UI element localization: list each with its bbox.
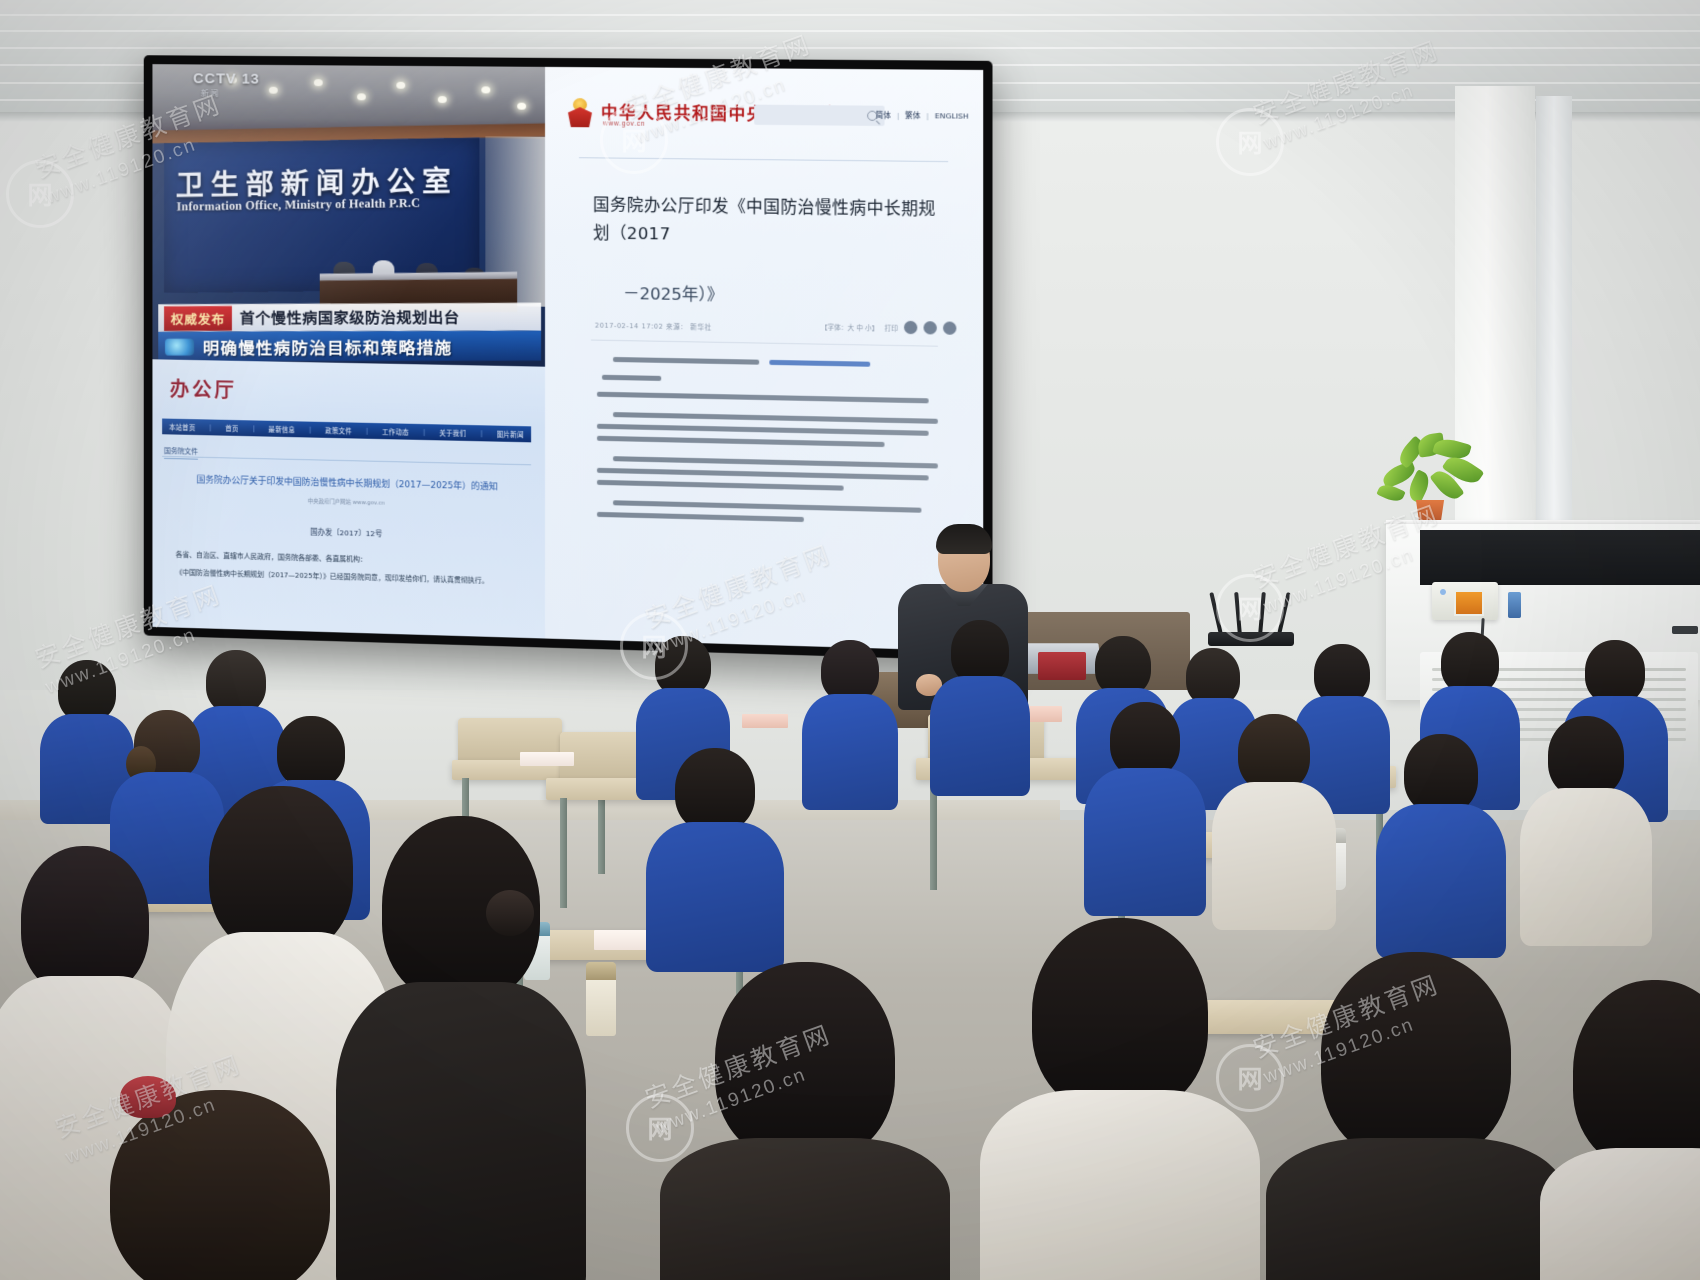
person-head: [821, 640, 879, 702]
person-head: [1095, 636, 1151, 696]
person-head: [209, 786, 353, 954]
counter-dark-panel: [1420, 530, 1700, 585]
person-head: [110, 1090, 330, 1280]
share-qq-icon[interactable]: [943, 321, 956, 334]
person-head: [675, 748, 755, 832]
article-paragraph: [597, 356, 932, 404]
water-bottle: [586, 962, 616, 1036]
audience-member: [646, 748, 784, 968]
gov-left-doc-number: 国办发〔2017〕12号: [185, 523, 509, 542]
person-head: [1032, 918, 1208, 1114]
hair-bun: [486, 890, 534, 936]
news-ticker-secondary: 明确慢性病防治目标和策略措施: [158, 331, 541, 362]
projection-screen[interactable]: CCTV 13 新闻 卫生部新闻办公室 Information Office, …: [144, 55, 993, 661]
hair-tie: [120, 1076, 176, 1118]
audience-member: [1084, 702, 1206, 912]
article-paragraph: [597, 500, 932, 525]
nav-item-6[interactable]: 图片新闻: [497, 429, 524, 440]
breadcrumb-divider: [162, 456, 531, 465]
gov-left-doc-meta: 中央政府门户网站 www.gov.cn: [185, 494, 509, 510]
wall-sensor: [1508, 592, 1521, 618]
person-head: [1585, 640, 1645, 704]
news-ticker-subline: 明确慢性病防治目标和策略措施: [203, 333, 453, 358]
audience-member: [1540, 980, 1700, 1280]
audience-member: [70, 1090, 370, 1280]
news-ticker-headline: 首个慢性病国家级防治规划出台: [240, 306, 460, 329]
gov-left-panel: 办公厅 本站首页| 首页| 最新信息| 政策文件| 工作动态| 关于我们| 图片…: [152, 359, 545, 638]
search-input[interactable]: [754, 105, 884, 126]
person-head: [21, 846, 149, 996]
person-torso: [1540, 1148, 1700, 1280]
person-head: [655, 636, 711, 696]
lang-option-2[interactable]: ENGLISH: [935, 111, 969, 120]
nav-item-5[interactable]: 关于我们: [439, 427, 466, 438]
person-head: [58, 660, 116, 722]
paper-sheet: [520, 752, 574, 766]
person-head: [715, 962, 895, 1162]
person-torso: [1084, 768, 1206, 916]
article-divider: [591, 340, 938, 347]
national-emblem-icon: [567, 97, 593, 129]
person-head: [1321, 952, 1511, 1162]
person-head: [1573, 980, 1700, 1170]
article-body: [597, 356, 932, 541]
print-label[interactable]: 打印: [885, 322, 898, 332]
person-head: [1404, 734, 1478, 814]
lang-option-0[interactable]: 简体: [875, 110, 890, 121]
article-paragraph: [597, 456, 932, 493]
person-torso: [1520, 788, 1652, 946]
person-head: [951, 620, 1009, 684]
gov-left-nav[interactable]: 本站首页| 首页| 最新信息| 政策文件| 工作动态| 关于我们| 图片新闻: [162, 419, 531, 443]
person-torso: [1266, 1138, 1566, 1280]
audience-member: [336, 816, 586, 1280]
person-torso: [1212, 782, 1336, 930]
cctv-channel-logo: CCTV 13: [193, 70, 260, 87]
person-torso: [660, 1138, 950, 1280]
person-torso: [1376, 804, 1506, 958]
classroom-photo: CCTV 13 新闻 卫生部新闻办公室 Information Office, …: [0, 0, 1700, 1280]
article-meta: 2017-02-14 17:02 来源： 新华社: [595, 320, 712, 332]
language-switcher[interactable]: 简体| 繁体| ENGLISH: [875, 110, 968, 122]
person-torso: [336, 982, 586, 1280]
window-slit: [1536, 96, 1572, 566]
person-head: [277, 716, 345, 788]
doc-body-line-2: 《中国防治慢性病中长期规划（2017—2025年）》已经国务院同意，现印发给你们…: [176, 566, 521, 588]
audience-member: [1520, 716, 1652, 942]
person-head: [206, 650, 266, 714]
audience-member: [980, 918, 1260, 1280]
person-torso: [980, 1090, 1260, 1280]
gov-site-header: 中华人民共和国中央人民政府 www.gov.cn 简体| 繁体| ENGLISH: [545, 89, 983, 156]
news-ticker-tag: 权威发布: [164, 305, 232, 330]
person-torso: [646, 822, 784, 972]
audience-member: [1266, 952, 1566, 1280]
paper-sheet: [742, 714, 788, 728]
cctv-news-video: CCTV 13 新闻 卫生部新闻办公室 Information Office, …: [152, 64, 545, 367]
cctv-channel-sub: 新闻: [201, 88, 220, 99]
screen-left-half: CCTV 13 新闻 卫生部新闻办公室 Information Office, …: [152, 64, 545, 638]
person-torso: [802, 694, 898, 810]
gov-left-doc-title[interactable]: 国务院办公厅关于印发中国防治慢性病中长期规划（2017—2025年）的通知: [185, 474, 509, 495]
article-paragraph: [597, 412, 932, 448]
news-ticker-primary: 权威发布 首个慢性病国家级防治规划出台: [158, 303, 541, 332]
audience-member: [802, 640, 898, 806]
person-head: [1110, 702, 1180, 778]
wifi-router: [1208, 592, 1294, 646]
audience-member: [1212, 714, 1336, 926]
wall-control-box[interactable]: [1432, 582, 1498, 620]
header-divider: [579, 157, 948, 162]
nav-item-3[interactable]: 政策文件: [325, 425, 352, 435]
nav-item-2[interactable]: 最新信息: [269, 424, 296, 434]
globe-icon: [165, 338, 194, 355]
gov-left-doc-body: 各省、自治区、直辖市人民政府，国务院各部委、各直属机构： 《中国防治慢性病中长期…: [176, 549, 521, 589]
status-light-icon: [1440, 589, 1446, 595]
person-head: [1238, 714, 1310, 792]
article-title-line2: －2025年）》: [623, 280, 723, 306]
font-size-label[interactable]: 【字体：大 中 小】: [821, 321, 878, 332]
gov-left-breadcrumb[interactable]: 国务院文件: [164, 446, 198, 460]
person-head: [1441, 632, 1499, 694]
gov-left-site-title: 办公厅: [170, 373, 237, 403]
share-wechat-icon[interactable]: [924, 321, 937, 334]
presenter-hair: [936, 524, 992, 554]
person-head: [1548, 716, 1624, 798]
nav-item-4[interactable]: 工作动态: [382, 426, 409, 437]
article-share-bar[interactable]: 【字体：大 中 小】 打印: [821, 319, 956, 334]
audience-member: [930, 620, 1030, 792]
person-head: [1314, 644, 1370, 704]
article-title: 国务院办公厅印发《中国防治慢性病中长期规划（2017: [593, 191, 938, 253]
audience-member: [1376, 734, 1506, 954]
person-torso: [930, 676, 1030, 796]
lang-option-1[interactable]: 繁体: [905, 110, 920, 121]
control-display: [1454, 590, 1484, 616]
nav-item-0[interactable]: 本站首页: [169, 422, 195, 432]
gov-site-url: www.gov.cn: [603, 120, 645, 127]
nav-item-1[interactable]: 首页: [225, 423, 238, 433]
counter-slot: [1672, 626, 1698, 634]
share-weibo-icon[interactable]: [904, 321, 917, 334]
audience-member: [660, 962, 950, 1280]
